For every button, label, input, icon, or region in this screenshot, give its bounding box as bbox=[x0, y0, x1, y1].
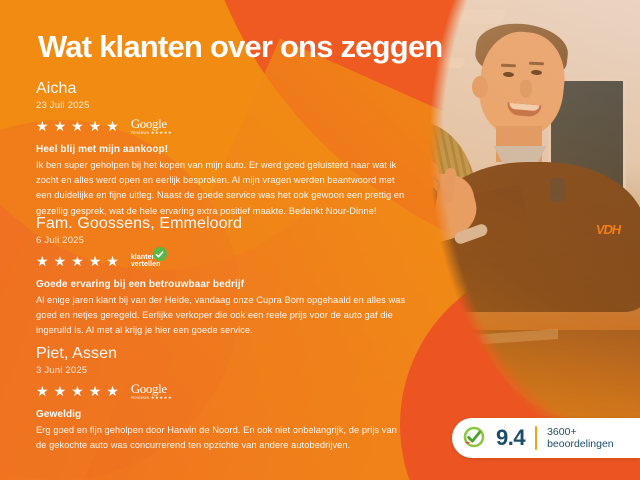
star-icon: ★ bbox=[106, 384, 119, 398]
star-icon: ★ bbox=[36, 384, 49, 398]
star-icon: ★ bbox=[36, 119, 49, 133]
google-logo-text: Google bbox=[131, 382, 172, 395]
klantenvertellen-logo: klanten vertellen bbox=[131, 254, 161, 269]
review-banner: VDH Wat klanten over ons zeggen Aicha 23… bbox=[0, 0, 640, 480]
review-body: Ik ben super geholpen bij het kopen van … bbox=[36, 158, 408, 218]
star-icon: ★ bbox=[89, 119, 102, 133]
star-icon: ★ bbox=[71, 254, 84, 268]
star-icon: ★ bbox=[71, 384, 84, 398]
badge-divider bbox=[535, 426, 537, 450]
star-icon: ★ bbox=[106, 119, 119, 133]
star-icon: ★ bbox=[106, 254, 119, 268]
star-icon: ★ bbox=[89, 254, 102, 268]
green-check-badge-icon bbox=[462, 426, 486, 450]
klantenvertellen-line-2: vertellen bbox=[131, 261, 161, 268]
rating-count-label: beoordelingen bbox=[547, 438, 614, 450]
star-icon: ★ bbox=[36, 254, 49, 268]
star-icon: ★ bbox=[54, 254, 67, 268]
star-rating: ★ ★ ★ ★ ★ bbox=[36, 384, 119, 398]
reviewer-name: Aicha bbox=[36, 80, 408, 98]
review-date: 23 Juli 2025 bbox=[36, 100, 408, 111]
check-badge-icon bbox=[153, 247, 167, 261]
reviewer-name: Piet, Assen bbox=[36, 345, 408, 363]
rating-count-block: 3600+ beoordelingen bbox=[547, 426, 614, 451]
review-card: Fam. Goossens, Emmeloord 6 Juli 2025 ★ ★… bbox=[36, 215, 408, 339]
review-body: Erg goed en fijn geholpen door Harwin de… bbox=[36, 423, 408, 453]
reviewer-name: Fam. Goossens, Emmeloord bbox=[36, 215, 408, 233]
google-logo-subtext: Reviews ★★★★★ bbox=[131, 396, 172, 401]
google-logo-subtext: Reviews ★★★★★ bbox=[131, 131, 172, 136]
rating-count: 3600+ bbox=[547, 426, 614, 438]
banner-content: Wat klanten over ons zeggen Aicha 23 Jul… bbox=[0, 0, 640, 480]
star-rating: ★ ★ ★ ★ ★ bbox=[36, 119, 119, 133]
page-title: Wat klanten over ons zeggen bbox=[38, 31, 442, 62]
overall-rating-badge: 9.4 3600+ beoordelingen bbox=[452, 418, 640, 458]
review-body: Al enige jaren klant bij van der Heide, … bbox=[36, 293, 408, 338]
review-card: Aicha 23 Juli 2025 ★ ★ ★ ★ ★ Google Revi… bbox=[36, 80, 408, 219]
review-meta: ★ ★ ★ ★ ★ Google Reviews ★★★★★ bbox=[36, 381, 408, 401]
review-card: Piet, Assen 3 Juni 2025 ★ ★ ★ ★ ★ Google… bbox=[36, 345, 408, 453]
review-title: Geweldig bbox=[36, 409, 408, 420]
rating-score: 9.4 bbox=[496, 427, 525, 449]
google-logo-text: Google bbox=[131, 117, 172, 130]
google-reviews-logo: Google Reviews ★★★★★ bbox=[131, 382, 172, 401]
star-icon: ★ bbox=[71, 119, 84, 133]
star-rating: ★ ★ ★ ★ ★ bbox=[36, 254, 119, 268]
review-meta: ★ ★ ★ ★ ★ Google Reviews ★★★★★ bbox=[36, 116, 408, 136]
star-icon: ★ bbox=[89, 384, 102, 398]
review-meta: ★ ★ ★ ★ ★ klanten vertellen bbox=[36, 251, 408, 271]
review-title: Goede ervaring bij een betrouwbaar bedri… bbox=[36, 279, 408, 290]
star-icon: ★ bbox=[54, 384, 67, 398]
review-date: 3 Juni 2025 bbox=[36, 365, 408, 376]
google-reviews-logo: Google Reviews ★★★★★ bbox=[131, 117, 172, 136]
review-title: Heel blij met mijn aankoop! bbox=[36, 144, 408, 155]
review-date: 6 Juli 2025 bbox=[36, 235, 408, 246]
star-icon: ★ bbox=[54, 119, 67, 133]
